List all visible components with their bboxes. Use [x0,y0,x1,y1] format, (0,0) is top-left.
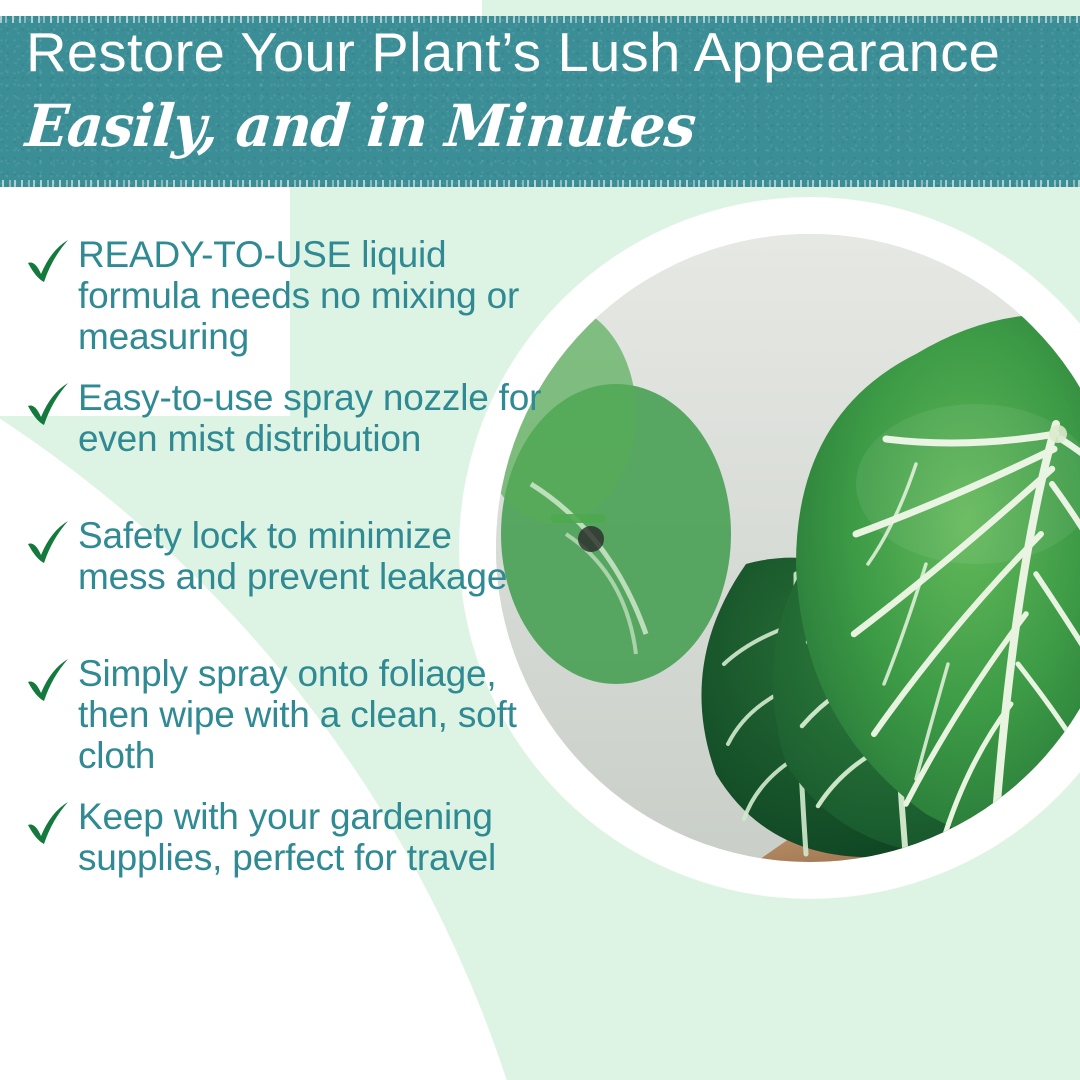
anthurium-leaves-illustration [496,234,1080,862]
benefit-item: Safety lock to minimize mess and prevent… [22,513,542,633]
benefit-item: READY-TO-USE liquid formula needs no mix… [22,232,542,357]
check-mark-icon [22,517,74,569]
check-mark-icon [22,379,74,431]
benefits-list: READY-TO-USE liquid formula needs no mix… [22,232,542,932]
benefit-text: Safety lock to minimize mess and prevent… [78,513,542,597]
benefit-item: Easy-to-use spray nozzle for even mist d… [22,375,542,495]
benefit-text: READY-TO-USE liquid formula needs no mix… [78,232,542,357]
banner-bottom-edge [0,180,1080,187]
subheadline-script-text: Easily, and in Minutes [23,92,698,160]
headline-text: Restore Your Plant’s Lush Appearance [26,20,1000,84]
benefit-text: Keep with your gardening supplies, perfe… [78,794,542,878]
check-mark-icon [22,236,74,288]
benefit-text: Simply spray onto foliage, then wipe wit… [78,651,542,776]
infographic-page: Restore Your Plant’s Lush Appearance Eas… [0,0,1080,1080]
benefit-item: Keep with your gardening supplies, perfe… [22,794,542,914]
benefit-item: Simply spray onto foliage, then wipe wit… [22,651,542,776]
check-mark-icon [22,655,74,707]
check-mark-icon [22,798,74,850]
plant-photo [496,234,1080,862]
benefit-text: Easy-to-use spray nozzle for even mist d… [78,375,542,459]
